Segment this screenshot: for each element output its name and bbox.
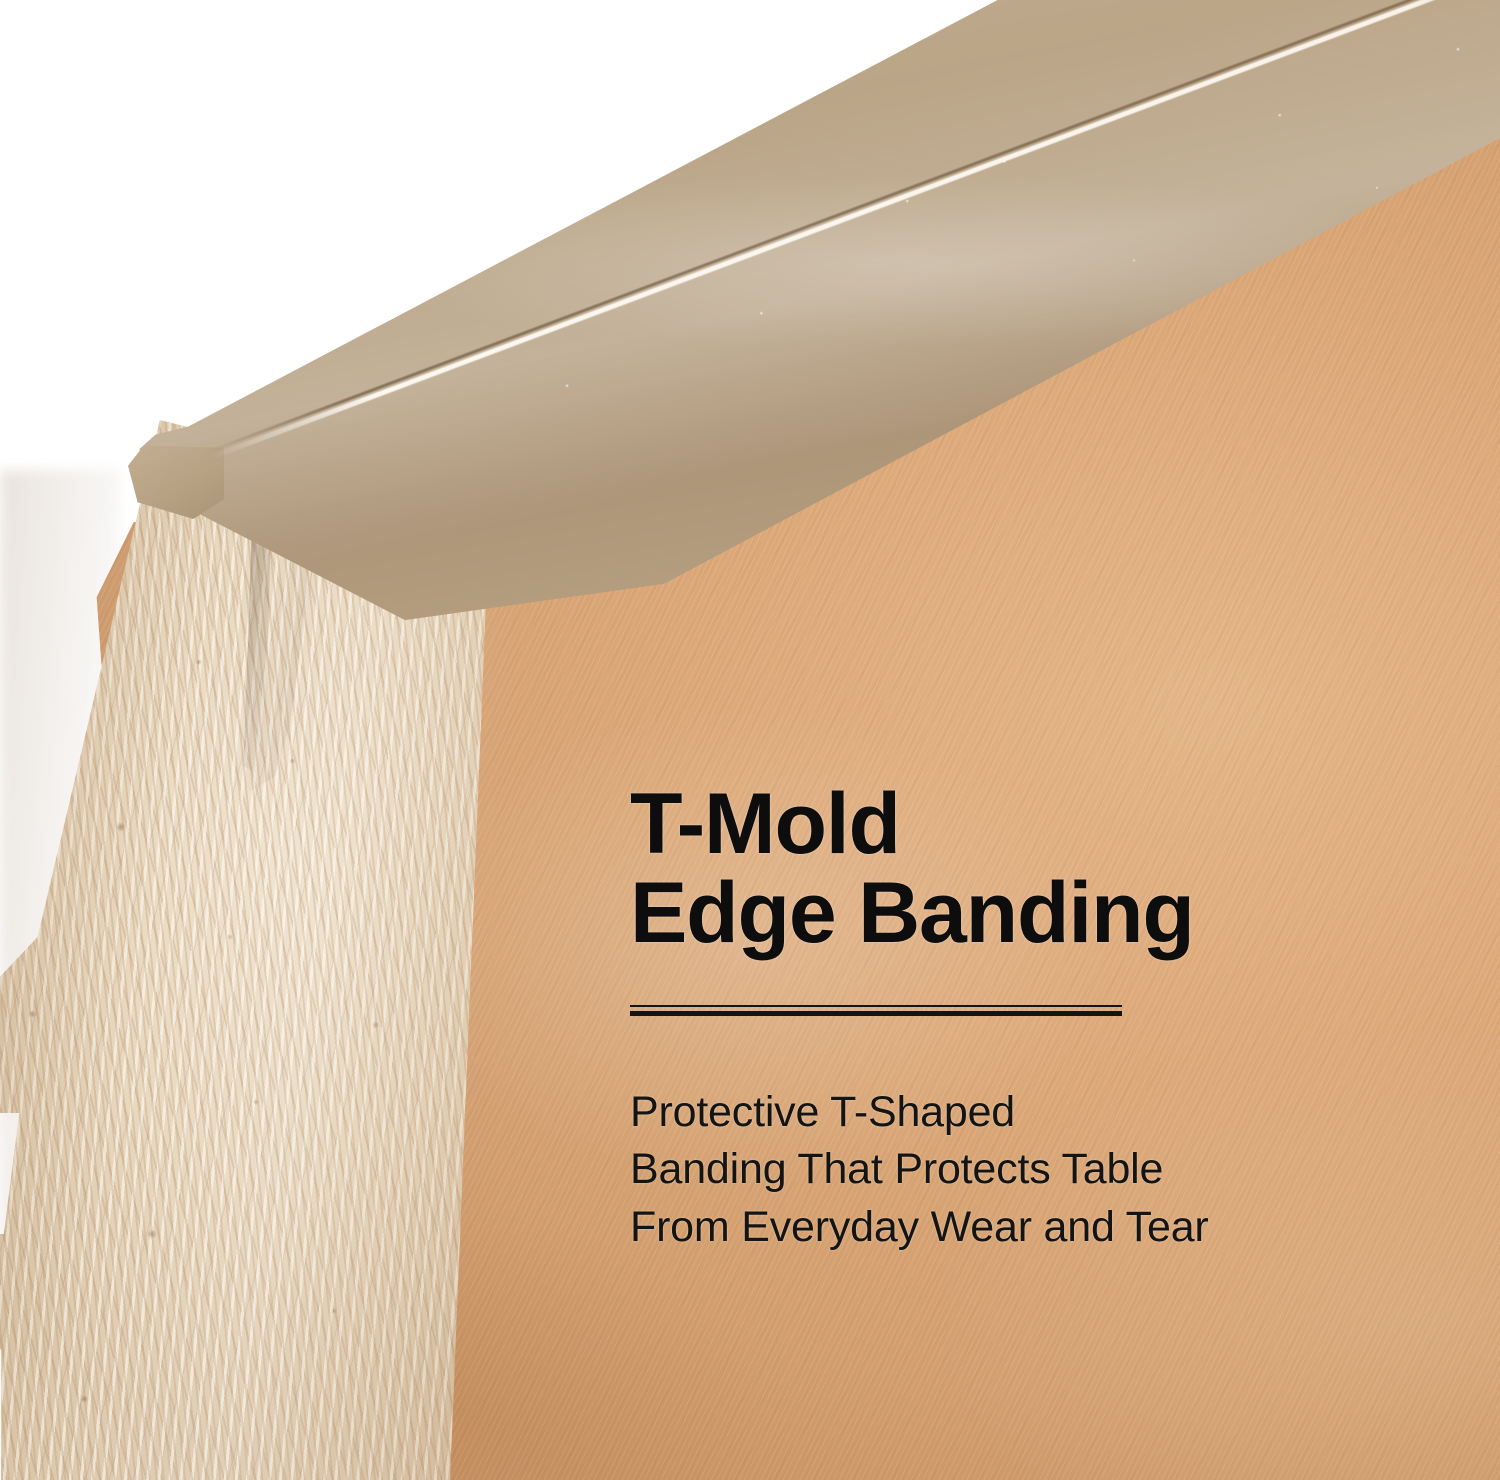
description-line-1: Protective T-Shaped: [630, 1084, 1470, 1141]
text-overlay: T-Mold Edge Banding Protective T-Shaped …: [630, 780, 1470, 1256]
divider-line-bottom: [630, 1011, 1122, 1016]
product-description: Protective T-Shaped Banding That Protect…: [630, 1084, 1470, 1256]
description-line-2: Banding That Protects Table: [630, 1141, 1470, 1198]
product-headline: T-Mold Edge Banding: [630, 780, 1470, 957]
product-photo: [0, 0, 1500, 1480]
double-rule-divider: [630, 1005, 1122, 1016]
description-line-3: From Everyday Wear and Tear: [630, 1199, 1470, 1256]
headline-line-2: Edge Banding: [630, 869, 1470, 958]
product-feature-image: T-Mold Edge Banding Protective T-Shaped …: [0, 0, 1500, 1480]
headline-line-1: T-Mold: [630, 780, 1470, 869]
